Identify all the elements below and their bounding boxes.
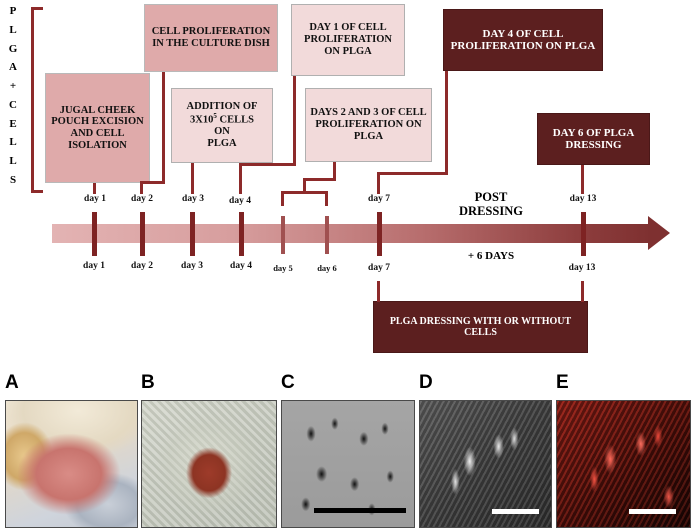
box-day6-plga-dressing[interactable]: DAY 6 OF PLGA DRESSING xyxy=(537,113,650,165)
panel-c-scale-bar xyxy=(314,508,406,513)
box-jugal-cheek-excision[interactable]: JUGAL CHEEK POUCH EXCISION AND CELL ISOL… xyxy=(45,73,150,183)
connector-jugal-to-day1 xyxy=(93,183,96,194)
panel-letter-b: B xyxy=(141,372,155,394)
vlabel-letter-l3: L xyxy=(9,156,16,167)
connector-day4box-horizontal xyxy=(377,172,448,175)
vlabel-letter-e: E xyxy=(9,119,16,130)
post-dressing-caption: POST DRESSING xyxy=(432,190,550,219)
vlabel-letter-s: S xyxy=(10,175,16,186)
box-jugal-cheek-label: JUGAL CHEEK POUCH EXCISION AND CELL ISOL… xyxy=(50,105,145,152)
box-day1-label: DAY 1 OF CELL PROLIFERATION ON PLGA xyxy=(296,22,400,57)
addition-line-4: ON xyxy=(214,126,230,138)
panel-a-image xyxy=(6,401,137,527)
post-dressing-line1: POST xyxy=(432,190,550,204)
connector-culturedish-to-day2 xyxy=(140,181,143,194)
connector-day1box-horizontal xyxy=(239,163,296,166)
panel-letter-d: D xyxy=(419,372,433,394)
connector-culturedish-horizontal xyxy=(140,181,165,184)
addition-line-1: ADDITION OF xyxy=(187,101,258,113)
connector-day13-to-dressing-box xyxy=(581,281,584,302)
vlabel-letter-c: C xyxy=(9,100,17,111)
panel-e-scale-bar xyxy=(629,509,676,514)
panel-e-fluorescence-cells[interactable] xyxy=(556,400,691,528)
box-day4-proliferation-on-plga[interactable]: DAY 4 OF CELL PROLIFERATION ON PLGA xyxy=(443,9,603,71)
panel-a-jugal-pouch-surgery[interactable] xyxy=(5,400,138,528)
vlabel-letter-l2: L xyxy=(9,137,16,148)
photo-panel-row: A B C D E xyxy=(0,372,700,530)
box-cell-proliferation-culture-dish[interactable]: CELL PROLIFERATION IN THE CULTURE DISH xyxy=(144,4,278,72)
panel-d-cells-on-plga[interactable] xyxy=(419,400,552,528)
box-day1-proliferation-on-plga[interactable]: DAY 1 OF CELL PROLIFERATION ON PLGA xyxy=(291,4,405,76)
box-addition-of-cells-on-plga[interactable]: ADDITION OF 3X105 CELLS ON PLGA xyxy=(171,88,273,163)
upper-daylabel-day1: day 1 xyxy=(70,194,120,204)
panel-d-scale-bar xyxy=(492,509,539,514)
panel-b-image xyxy=(142,401,276,527)
upper-daylabel-day3: day 3 xyxy=(168,194,218,204)
upper-daylabel-day4: day 4 xyxy=(215,196,265,206)
box-plga-dressing-with-or-without-cells[interactable]: PLGA DRESSING WITH OR WITHOUT CELLS xyxy=(373,301,588,353)
plga-cells-bracket xyxy=(31,7,43,193)
connector-day6box-to-day13 xyxy=(581,165,584,194)
lower-daylabel-day3: day 3 xyxy=(167,261,217,271)
timeline-tick-day6 xyxy=(325,216,329,254)
vlabel-letter-l1: L xyxy=(9,25,16,36)
panel-letter-e: E xyxy=(556,372,569,394)
lower-daylabel-day1: day 1 xyxy=(69,261,119,271)
post-dressing-line2: DRESSING xyxy=(432,204,550,218)
panel-letter-c: C xyxy=(281,372,295,394)
connector-day4box-vertical xyxy=(445,71,448,175)
box-days2-3-proliferation-on-plga[interactable]: DAYS 2 AND 3 OF CELL PROLIFERATION ON PL… xyxy=(305,88,432,162)
connector-to-day6 xyxy=(325,191,328,206)
lower-daylabel-day6: day 6 xyxy=(303,263,351,273)
upper-daylabel-day13: day 13 xyxy=(557,194,609,204)
connector-days56-bridge xyxy=(281,191,328,194)
timeline-tick-day13 xyxy=(581,212,586,256)
connector-addition-to-day3 xyxy=(191,163,194,194)
box-day6-label: DAY 6 OF PLGA DRESSING xyxy=(542,127,645,152)
plga-cells-vertical-label: P L G A + C E L L S xyxy=(2,6,24,186)
addition-line-5: PLGA xyxy=(207,138,236,150)
connector-day1box-vertical xyxy=(293,76,296,165)
timeline-tick-day3 xyxy=(190,212,195,256)
addition-cells-word: CELLS xyxy=(217,115,254,126)
plus-six-days-caption: + 6 DAYS xyxy=(432,250,550,262)
panel-letter-a: A xyxy=(5,372,19,394)
figure-root: P L G A + C E L L S JUGAL CHEEK POUCH EX… xyxy=(0,0,700,530)
connector-days23-left xyxy=(303,178,336,181)
box-day4-label: DAY 4 OF CELL PROLIFERATION ON PLGA xyxy=(448,28,598,53)
lower-daylabel-day5: day 5 xyxy=(259,263,307,273)
timeline-tick-day1 xyxy=(92,212,97,256)
timeline-tick-day7 xyxy=(377,212,382,256)
timeline-arrow-icon xyxy=(648,216,670,250)
connector-culturedish-vertical xyxy=(162,72,165,184)
box-culture-dish-label: CELL PROLIFERATION IN THE CULTURE DISH xyxy=(149,26,273,50)
lower-daylabel-day13: day 13 xyxy=(556,263,608,273)
connector-day4box-to-day7 xyxy=(377,172,380,194)
box-days23-label: DAYS 2 AND 3 OF CELL PROLIFERATION ON PL… xyxy=(310,107,427,142)
upper-daylabel-day2: day 2 xyxy=(117,194,167,204)
addition-line-2: 3X105 CELLS xyxy=(190,113,254,126)
panel-b-tissue-in-dish[interactable] xyxy=(141,400,277,528)
timeline-tick-day2 xyxy=(140,212,145,256)
panel-c-phase-contrast-cells[interactable] xyxy=(281,400,415,528)
connector-to-day5 xyxy=(281,191,284,206)
addition-value: 3X10 xyxy=(190,115,213,126)
lower-daylabel-day7: day 7 xyxy=(354,263,404,273)
connector-day7-to-dressing-box xyxy=(377,281,380,302)
box-plga-dressing-label: PLGA DRESSING WITH OR WITHOUT CELLS xyxy=(378,316,583,338)
timeline-tick-day5 xyxy=(281,216,285,254)
vlabel-letter-p: P xyxy=(10,6,17,17)
upper-daylabel-day7: day 7 xyxy=(354,194,404,204)
lower-daylabel-day2: day 2 xyxy=(117,261,167,271)
vlabel-letter-g: G xyxy=(9,44,18,55)
vlabel-letter-plus: + xyxy=(10,81,16,92)
timeline-tick-day4 xyxy=(239,212,244,256)
vlabel-letter-a: A xyxy=(9,62,17,73)
connector-day1box-to-day4 xyxy=(239,163,242,194)
